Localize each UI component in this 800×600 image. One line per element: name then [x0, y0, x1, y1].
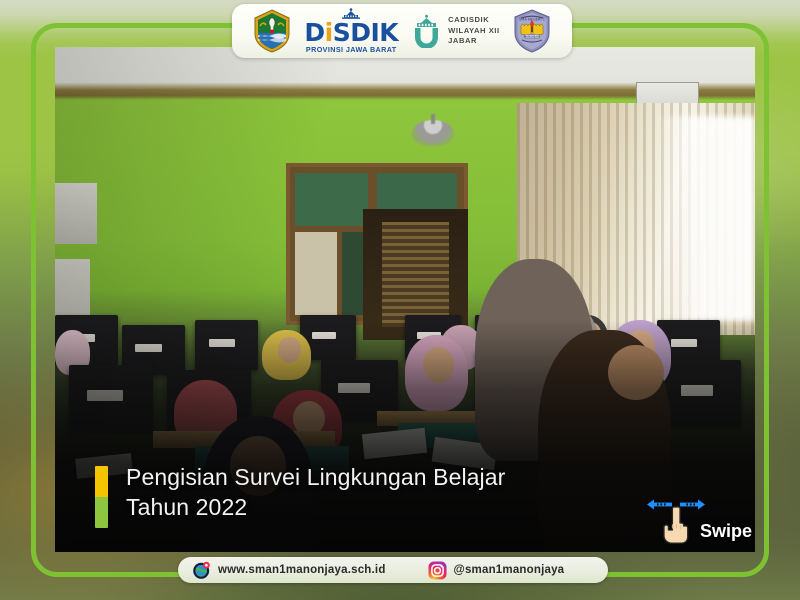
disdik-subtitle: PROVINSI JAWA BARAT [306, 46, 397, 53]
website-text: www.sman1manonjaya.sch.id [218, 564, 386, 576]
caption-text: Pengisian Survei Lingkungan Belajar Tahu… [126, 463, 505, 523]
svg-text:MANONJAYA: MANONJAYA [523, 34, 540, 38]
globe-pin-icon [192, 561, 211, 580]
logo-banner: DiSDIK PROVINSI JAWA BARAT CADISDIK WILA… [232, 4, 572, 58]
caption-block: Pengisian Survei Lingkungan Belajar Tahu… [95, 463, 505, 528]
cadisdik-mark-icon [410, 14, 443, 48]
cadisdik-line-2: WILAYAH XII [448, 26, 499, 37]
instagram-text: @sman1manonjaya [454, 564, 565, 576]
instagram-item[interactable]: @sman1manonjaya [428, 561, 565, 580]
cadisdik-line-3: JABAR [448, 36, 499, 47]
accent-bar-green [95, 497, 108, 528]
disdik-logo: DiSDIK PROVINSI JAWA BARAT [304, 8, 398, 53]
school-crest-icon: SMA NEGERI 1 MANONJAYA [512, 9, 552, 53]
swipe-hint[interactable]: Swipe [655, 498, 752, 544]
website-item[interactable]: www.sman1manonjaya.sch.id [192, 561, 386, 580]
jabar-provincial-crest-icon [252, 9, 292, 53]
pointing-hand-icon [661, 506, 691, 544]
cadisdik-line-1: CADISDIK [448, 15, 499, 26]
disdik-wordmark: DiSDIK [304, 20, 398, 45]
caption-line-1: Pengisian Survei Lingkungan Belajar [126, 463, 505, 493]
footer-contact-bar: www.sman1manonjaya.sch.id @sman1manonjay… [178, 557, 608, 583]
cadisdik-text: CADISDIK WILAYAH XII JABAR [448, 15, 499, 47]
instagram-icon [428, 561, 447, 580]
accent-bar-yellow [95, 466, 108, 497]
swipe-label: Swipe [700, 521, 752, 544]
cadisdik-logo: CADISDIK WILAYAH XII JABAR [410, 14, 499, 48]
swipe-hand-icon [655, 498, 697, 544]
caption-line-2: Tahun 2022 [126, 493, 505, 523]
accent-bar [95, 466, 108, 528]
